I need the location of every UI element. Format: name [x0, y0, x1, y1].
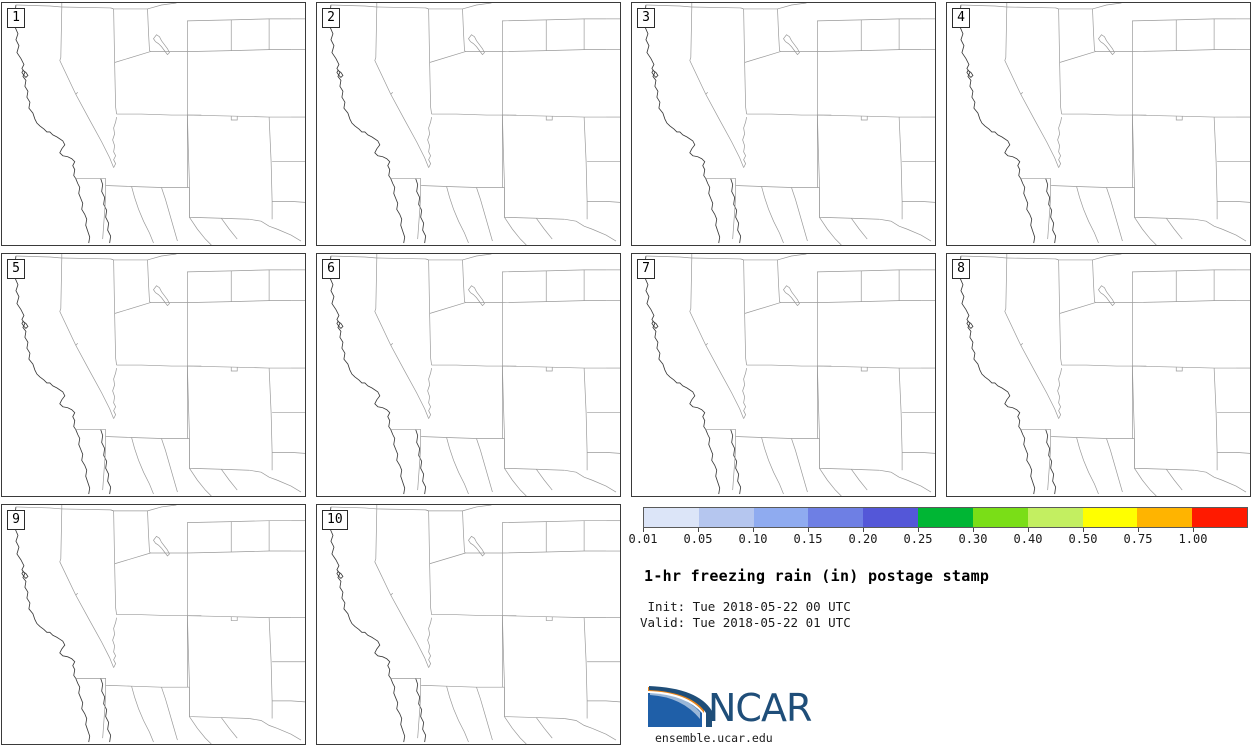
state-border-path — [744, 260, 747, 365]
state-border-path — [706, 343, 708, 345]
coastline-path — [391, 179, 405, 243]
state-border-path — [587, 201, 620, 202]
state-border-path — [132, 186, 154, 243]
state-border-path — [428, 368, 432, 419]
state-border-path — [375, 258, 429, 419]
state-border-path — [115, 52, 151, 63]
state-border-path — [377, 7, 429, 9]
state-border-path — [1132, 366, 1236, 368]
state-border-path — [902, 452, 935, 453]
state-border-path — [1056, 8, 1059, 9]
state-border-path — [587, 452, 620, 453]
state-border-path — [502, 551, 606, 553]
state-border-path — [592, 229, 616, 241]
state-border-path — [861, 116, 867, 120]
state-border-path — [161, 187, 177, 241]
state-border-path — [961, 256, 1007, 258]
state-border-path — [272, 452, 305, 453]
state-border-path — [1007, 7, 1059, 9]
state-border-path — [1132, 115, 1236, 117]
state-border-path — [745, 52, 781, 63]
state-border-path — [1007, 258, 1059, 260]
state-border-path — [231, 116, 237, 120]
western-us-map-outline — [2, 505, 305, 744]
state-border-path — [706, 92, 708, 94]
state-border-path — [76, 179, 249, 220]
state-border-path — [747, 114, 818, 115]
init-time-label: Init: Tue 2018-05-22 00 UTC — [640, 599, 851, 615]
state-border-path — [114, 9, 151, 52]
state-border-path — [132, 686, 154, 742]
state-border-path — [148, 254, 177, 260]
colorbar-tick-label: 0.50 — [1069, 532, 1098, 546]
state-border-path — [447, 186, 469, 243]
state-border-path — [592, 480, 616, 492]
state-border-path — [1021, 430, 1194, 471]
state-border-path — [76, 92, 78, 94]
state-border-path — [429, 511, 432, 615]
coastline-path — [15, 256, 76, 430]
state-border-path — [1134, 217, 1156, 245]
state-border-path — [1166, 218, 1182, 239]
coastline-path — [1021, 179, 1035, 243]
colorbar-band-3 — [808, 508, 863, 527]
state-border-path — [428, 618, 432, 668]
state-border-path — [536, 218, 552, 239]
state-border-path — [76, 593, 78, 595]
state-border-path — [161, 687, 177, 740]
state-border-path — [187, 115, 291, 117]
state-border-path — [1077, 186, 1099, 243]
state-border-path — [546, 617, 552, 621]
state-border-path — [111, 8, 114, 9]
colorbar-tick-label: 0.05 — [684, 532, 713, 546]
state-border-path — [187, 366, 291, 368]
colorbar-tick-label: 0.25 — [904, 532, 933, 546]
state-border-path — [1060, 52, 1096, 63]
state-border-path — [1176, 116, 1182, 120]
state-border-path — [690, 258, 744, 419]
coastline-path — [330, 5, 391, 179]
map-panel-6[interactable]: 6 — [316, 253, 621, 497]
western-us-map-outline — [2, 254, 305, 496]
colorbar-tick-label: 0.01 — [629, 532, 658, 546]
state-border-path — [741, 8, 744, 9]
state-border-path — [221, 718, 237, 739]
state-border-path — [1059, 260, 1062, 365]
state-border-path — [148, 505, 177, 511]
state-border-path — [377, 258, 429, 260]
state-border-path — [272, 701, 305, 702]
state-border-path — [817, 50, 921, 52]
state-border-path — [161, 438, 177, 492]
state-border-path — [1176, 367, 1182, 371]
state-border-path — [111, 259, 114, 260]
state-border-path — [747, 365, 818, 366]
state-border-path — [744, 9, 781, 52]
state-border-path — [432, 114, 503, 115]
colorbar-tick-label: 1.00 — [1179, 532, 1208, 546]
state-border-path — [1059, 260, 1096, 303]
state-border-path — [391, 678, 564, 718]
state-border-path — [377, 509, 429, 511]
state-border-path — [114, 260, 151, 303]
map-panel-5[interactable]: 5 — [1, 253, 306, 497]
colorbar-band-8 — [1083, 508, 1138, 527]
colorbar — [643, 507, 1248, 528]
state-border-path — [113, 368, 117, 419]
state-border-path — [187, 521, 291, 553]
state-border-path — [536, 469, 552, 490]
state-border-path — [546, 116, 552, 120]
coastline-path — [76, 179, 90, 243]
state-border-path — [744, 260, 781, 303]
state-border-path — [429, 9, 466, 52]
panel-number-label: 5 — [7, 259, 25, 279]
state-border-path — [1021, 343, 1023, 345]
state-border-path — [1058, 117, 1062, 168]
state-border-path — [564, 470, 592, 480]
state-border-path — [115, 553, 151, 564]
colorbar-band-2 — [754, 508, 809, 527]
state-border-path — [1021, 179, 1194, 220]
colorbar-band-4 — [863, 508, 918, 527]
state-border-path — [817, 270, 921, 303]
state-border-path — [1106, 438, 1122, 492]
state-border-path — [817, 366, 921, 368]
state-border-path — [1217, 201, 1250, 202]
state-border-path — [1214, 117, 1217, 219]
state-border-path — [62, 509, 114, 511]
state-border-path — [961, 5, 1007, 7]
state-border-path — [221, 218, 237, 239]
state-border-path — [851, 469, 867, 490]
state-border-path — [117, 615, 188, 616]
colorbar-band-0 — [644, 508, 699, 527]
state-border-path — [1222, 229, 1246, 241]
state-border-path — [1093, 3, 1122, 9]
state-border-path — [1194, 470, 1222, 480]
colorbar-tick-label: 0.15 — [794, 532, 823, 546]
state-border-path — [148, 3, 177, 9]
state-border-path — [189, 468, 211, 496]
colorbar-band-1 — [699, 508, 754, 527]
state-border-path — [60, 7, 114, 168]
state-border-path — [463, 505, 492, 511]
coastline-path — [76, 678, 90, 742]
state-border-path — [272, 201, 305, 202]
state-border-path — [189, 217, 211, 245]
state-border-path — [564, 719, 592, 729]
state-border-path — [899, 368, 902, 470]
state-border-path — [114, 260, 117, 365]
state-border-path — [114, 511, 151, 553]
western-us-map-outline — [632, 3, 935, 245]
state-border-path — [706, 430, 879, 471]
state-border-path — [114, 511, 117, 615]
state-border-path — [331, 5, 377, 7]
state-border-path — [463, 254, 492, 260]
colorbar-tick-label: 0.75 — [1124, 532, 1153, 546]
state-border-path — [231, 367, 237, 371]
state-border-path — [504, 717, 526, 744]
state-border-path — [249, 719, 277, 729]
state-border-path — [476, 438, 492, 492]
state-border-path — [1005, 7, 1059, 168]
state-border-path — [745, 303, 781, 314]
panel-number-label: 6 — [322, 259, 340, 279]
state-border-path — [1062, 365, 1133, 366]
state-border-path — [741, 259, 744, 260]
panel-number-label: 2 — [322, 8, 340, 28]
western-us-map-outline — [317, 505, 620, 744]
state-border-path — [907, 229, 931, 241]
state-border-path — [1132, 50, 1236, 52]
state-border-path — [426, 8, 429, 9]
state-border-path — [114, 9, 117, 114]
map-panel-9[interactable]: 9 — [1, 504, 306, 745]
state-border-path — [646, 5, 692, 7]
state-border-path — [819, 217, 841, 245]
state-border-path — [690, 7, 744, 168]
state-border-path — [463, 3, 492, 9]
state-border-path — [16, 256, 62, 258]
state-border-path — [1134, 468, 1156, 496]
state-border-path — [430, 303, 466, 314]
colorbar-tick-label: 0.40 — [1014, 532, 1043, 546]
state-border-path — [16, 5, 62, 7]
coastline-path — [330, 507, 391, 678]
panel-number-label: 9 — [7, 510, 25, 530]
western-us-map-outline — [317, 3, 620, 245]
coastline-path — [706, 179, 720, 243]
state-border-path — [817, 301, 921, 303]
state-border-path — [536, 718, 552, 739]
state-border-path — [428, 117, 432, 168]
state-border-path — [791, 187, 807, 241]
state-border-path — [1005, 258, 1059, 419]
state-border-path — [791, 438, 807, 492]
state-border-path — [692, 7, 744, 9]
state-border-path — [60, 258, 114, 419]
state-border-path — [429, 260, 432, 365]
state-border-path — [584, 618, 587, 719]
ncar-logo: NCAR ensemble.ucar.edu — [646, 683, 826, 743]
state-border-path — [391, 179, 564, 220]
state-border-path — [269, 117, 272, 219]
panel-number-label: 8 — [952, 259, 970, 279]
state-border-path — [592, 728, 616, 740]
state-border-path — [584, 117, 587, 219]
colorbar-band-7 — [1028, 508, 1083, 527]
state-border-path — [429, 511, 466, 553]
colorbar-band-5 — [918, 508, 973, 527]
state-border-path — [187, 19, 291, 52]
state-border-path — [1077, 437, 1099, 494]
state-border-path — [76, 430, 249, 471]
coastline-path — [15, 507, 76, 678]
state-border-path — [1132, 19, 1236, 52]
state-border-path — [819, 468, 841, 496]
state-border-path — [447, 437, 469, 494]
panel-number-label: 4 — [952, 8, 970, 28]
coastline-path — [1021, 430, 1035, 494]
state-border-path — [62, 7, 114, 9]
state-border-path — [502, 521, 606, 553]
ncar-url-label: ensemble.ucar.edu — [655, 731, 773, 745]
state-border-path — [476, 187, 492, 241]
state-border-path — [1106, 187, 1122, 241]
state-border-path — [899, 117, 902, 219]
state-border-path — [187, 551, 291, 553]
ncar-wordmark: NCAR — [708, 687, 811, 729]
coastline-path — [960, 256, 1021, 430]
state-border-path — [743, 117, 747, 168]
state-border-path — [132, 437, 154, 494]
state-border-path — [1059, 9, 1062, 114]
panel-number-label: 10 — [322, 510, 348, 530]
state-border-path — [189, 717, 211, 744]
state-border-path — [1056, 259, 1059, 260]
state-border-path — [762, 186, 784, 243]
colorbar-tick-labels: 0.010.050.100.150.200.250.300.400.500.75… — [643, 528, 1248, 548]
state-border-path — [187, 616, 291, 618]
state-border-path — [502, 301, 606, 303]
state-border-path — [502, 366, 606, 368]
state-border-path — [861, 367, 867, 371]
map-panel-2[interactable]: 2 — [316, 2, 621, 246]
map-panel-1[interactable]: 1 — [1, 2, 306, 246]
state-border-path — [744, 9, 747, 114]
state-border-path — [375, 7, 429, 168]
state-border-path — [430, 52, 466, 63]
western-us-map-outline — [2, 3, 305, 245]
state-border-path — [111, 510, 114, 511]
state-border-path — [331, 507, 377, 509]
state-border-path — [187, 270, 291, 303]
colorbar-tick-label: 0.30 — [959, 532, 988, 546]
state-border-path — [564, 219, 592, 229]
state-border-path — [391, 593, 393, 595]
state-border-path — [902, 201, 935, 202]
panel-number-label: 1 — [7, 8, 25, 28]
coastline-path — [706, 430, 720, 494]
state-border-path — [426, 510, 429, 511]
state-border-path — [504, 468, 526, 496]
state-border-path — [851, 218, 867, 239]
panel-number-label: 3 — [637, 8, 655, 28]
coastline-path — [645, 256, 706, 430]
state-border-path — [375, 509, 429, 668]
state-border-path — [231, 617, 237, 621]
state-border-path — [1132, 270, 1236, 303]
state-border-path — [117, 114, 188, 115]
state-border-path — [113, 618, 117, 668]
state-border-path — [502, 19, 606, 52]
state-border-path — [502, 616, 606, 618]
state-border-path — [187, 50, 291, 52]
state-border-path — [62, 258, 114, 260]
state-border-path — [277, 480, 301, 492]
state-border-path — [430, 553, 466, 564]
state-border-path — [778, 254, 807, 260]
state-border-path — [504, 217, 526, 245]
state-border-path — [331, 256, 377, 258]
state-border-path — [502, 115, 606, 117]
coastline-path — [76, 430, 90, 494]
western-us-map-outline — [947, 3, 1250, 245]
legend-block: 0.010.050.100.150.200.250.300.400.500.75… — [631, 503, 1250, 744]
state-border-path — [16, 507, 62, 509]
coastline-path — [15, 5, 76, 179]
state-border-path — [1062, 114, 1133, 115]
state-border-path — [1194, 219, 1222, 229]
state-border-path — [432, 615, 503, 616]
coastline-path — [391, 678, 405, 742]
state-border-path — [447, 686, 469, 742]
state-border-path — [1021, 92, 1023, 94]
coastline-path — [391, 430, 405, 494]
state-border-path — [429, 260, 466, 303]
state-border-path — [502, 270, 606, 303]
state-border-path — [277, 728, 301, 740]
state-border-path — [1060, 303, 1096, 314]
state-border-path — [476, 687, 492, 740]
state-border-path — [391, 343, 393, 345]
colorbar-tick-label: 0.20 — [849, 532, 878, 546]
colorbar-band-10 — [1192, 508, 1247, 527]
valid-time-label: Valid: Tue 2018-05-22 01 UTC — [640, 615, 851, 631]
state-border-path — [1059, 9, 1096, 52]
map-panel-8[interactable]: 8 — [946, 253, 1251, 497]
state-border-path — [76, 343, 78, 345]
western-us-map-outline — [632, 254, 935, 496]
state-border-path — [1222, 480, 1246, 492]
state-border-path — [429, 9, 432, 114]
map-panel-4[interactable]: 4 — [946, 2, 1251, 246]
state-border-path — [1132, 301, 1236, 303]
map-panel-10[interactable]: 10 — [316, 504, 621, 745]
colorbar-band-6 — [973, 508, 1028, 527]
western-us-map-outline — [947, 254, 1250, 496]
state-border-path — [426, 259, 429, 260]
map-panel-3[interactable]: 3 — [631, 2, 936, 246]
state-border-path — [1058, 368, 1062, 419]
coastline-path — [645, 5, 706, 179]
coastline-path — [330, 256, 391, 430]
state-border-path — [1214, 368, 1217, 470]
map-panel-7[interactable]: 7 — [631, 253, 936, 497]
state-border-path — [907, 480, 931, 492]
state-border-path — [646, 256, 692, 258]
western-us-map-outline — [317, 254, 620, 496]
state-border-path — [546, 367, 552, 371]
state-border-path — [879, 470, 907, 480]
state-border-path — [432, 365, 503, 366]
coastline-path — [960, 5, 1021, 179]
state-border-path — [60, 509, 114, 668]
state-border-path — [817, 19, 921, 52]
state-border-path — [706, 179, 879, 220]
state-border-path — [587, 701, 620, 702]
state-border-path — [269, 618, 272, 719]
panel-number-label: 7 — [637, 259, 655, 279]
state-border-path — [269, 368, 272, 470]
state-border-path — [817, 115, 921, 117]
figure-title: 1-hr freezing rain (in) postage stamp — [644, 567, 989, 586]
state-border-path — [743, 368, 747, 419]
state-border-path — [502, 50, 606, 52]
